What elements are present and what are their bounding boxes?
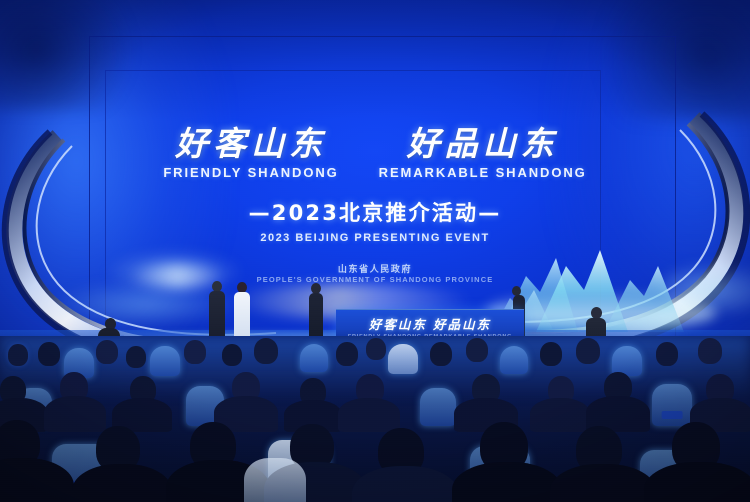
audience-shoulders-light <box>244 458 306 502</box>
stage-person-center <box>306 283 326 343</box>
title-cn-friendly: 好客山东 <box>163 126 338 163</box>
audience-head <box>222 344 242 366</box>
audience-head <box>336 342 358 366</box>
audience-area <box>0 336 750 502</box>
chair-logo <box>662 411 683 419</box>
title-en-friendly: FRIENDLY SHANDONG <box>163 165 338 180</box>
audience-head <box>466 338 488 362</box>
audience-head <box>656 342 678 366</box>
audience-shoulders <box>338 398 400 432</box>
backdrop-title-block: 好客山东 FRIENDLY SHANDONG 好品山东 REMARKABLE S… <box>0 126 750 244</box>
title-en-remarkable: REMARKABLE SHANDONG <box>379 165 587 180</box>
audience-shoulders <box>530 398 590 432</box>
organizer-cn: 山东省人民政府 <box>0 262 750 275</box>
chair-icon <box>388 344 418 374</box>
audience-shoulders <box>352 466 458 502</box>
event-title-cn: —2023北京推介活动— <box>0 197 750 227</box>
audience-head <box>8 344 28 366</box>
organizer-en: PEOPLE'S GOVERNMENT OF SHANDONG PROVINCE <box>0 275 750 284</box>
chair-icon <box>420 388 456 426</box>
podium-banner-cn: 好客山东 好品山东 <box>336 314 524 333</box>
audience-head <box>184 340 206 364</box>
stage-event-photo: 好客山东 FRIENDLY SHANDONG 好品山东 REMARKABLE S… <box>0 0 750 502</box>
audience-shoulders <box>44 396 106 432</box>
chair-icon <box>652 384 692 426</box>
audience-head <box>430 342 452 366</box>
title-unit-friendly: 好客山东 FRIENDLY SHANDONG <box>163 126 338 180</box>
chair-icon <box>300 344 328 372</box>
audience-head <box>576 338 600 364</box>
title-cn-remarkable: 好品山东 <box>379 126 587 163</box>
audience-head <box>38 342 60 366</box>
audience-head <box>96 340 118 364</box>
audience-head <box>254 338 278 364</box>
event-title-en: 2023 BEIJING PRESENTING EVENT <box>0 232 750 244</box>
audience-shoulders <box>72 464 172 502</box>
audience-shoulders <box>452 462 562 502</box>
audience-head <box>366 338 386 360</box>
title-unit-remarkable: 好品山东 REMARKABLE SHANDONG <box>379 126 587 180</box>
audience-head <box>126 346 146 368</box>
title-row: 好客山东 FRIENDLY SHANDONG 好品山东 REMARKABLE S… <box>0 126 750 180</box>
chair-icon <box>150 346 180 376</box>
audience-head <box>540 342 562 366</box>
audience-head <box>698 338 722 364</box>
chair-icon <box>500 346 528 374</box>
